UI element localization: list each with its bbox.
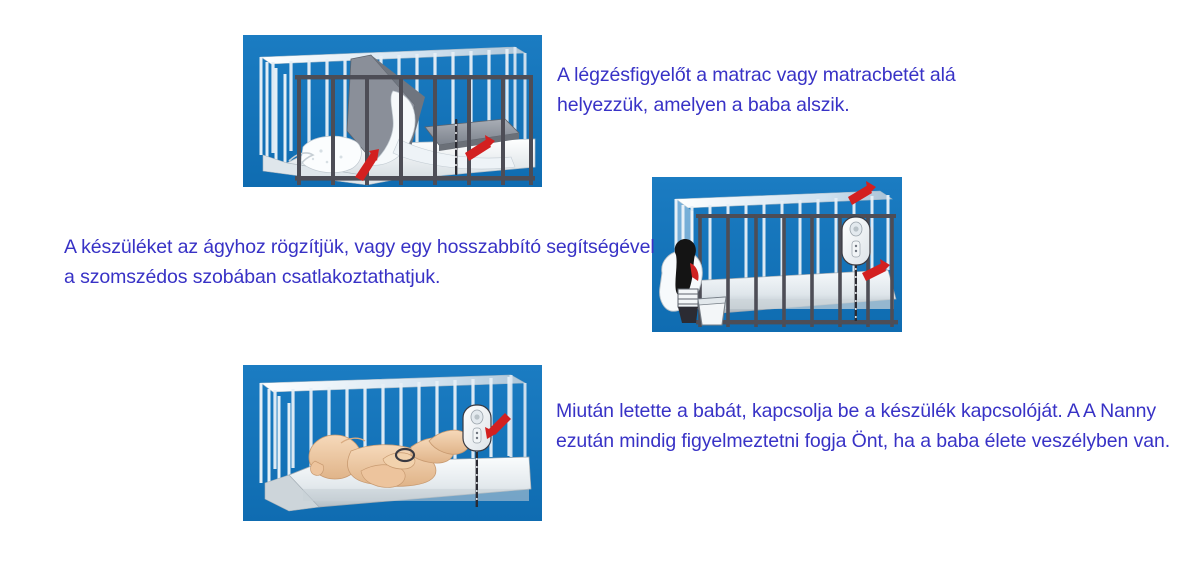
instruction-text-unit-mounting: A készüléket az ágyhoz rögzítjük, vagy e… <box>64 232 664 292</box>
illustration-unit-on-rail <box>652 177 902 332</box>
instruction-sheet: A légzésfigyelőt a matrac vagy matracbet… <box>0 0 1200 569</box>
illustration-baby-in-crib <box>243 365 542 521</box>
illustration-baby-in-crib-graphic <box>243 365 542 521</box>
illustration-mattress-lifted <box>243 35 542 187</box>
bucket-icon <box>698 297 726 325</box>
illustration-mattress-lifted-graphic <box>243 35 542 187</box>
monitor-unit-icon <box>842 217 870 265</box>
illustration-unit-on-rail-graphic <box>652 177 902 332</box>
instruction-text-sensor-placement: A légzésfigyelőt a matrac vagy matracbet… <box>557 60 1037 120</box>
instruction-text-power-on: Miután letette a babát, kapcsolja be a k… <box>556 396 1176 456</box>
